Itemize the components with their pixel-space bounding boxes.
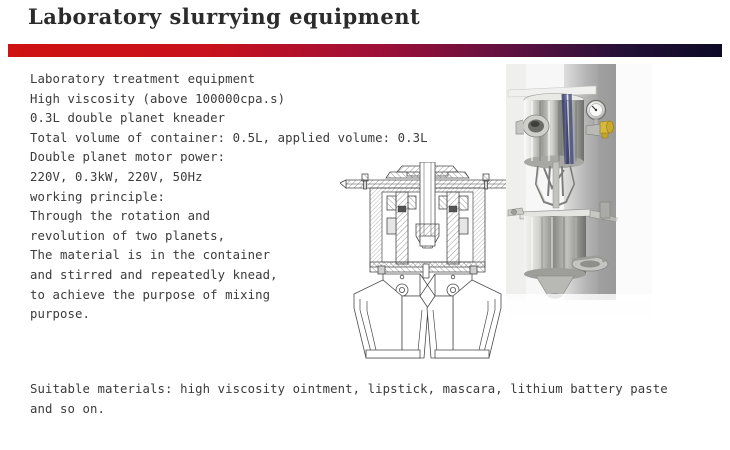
stainless-steel-planetary-mixer-photo — [506, 64, 652, 318]
spec-line: working principle: — [30, 188, 360, 208]
spec-line: Total volume of container: 0.5L, applied… — [30, 129, 360, 149]
spec-line: 220V, 0.3kW, 220V, 50Hz — [30, 168, 360, 188]
specification-text-block: Laboratory treatment equipment High visc… — [30, 70, 360, 325]
spec-line: to achieve the purpose of mixing — [30, 286, 360, 306]
spec-line: Through the rotation and — [30, 207, 360, 227]
spec-line: Double planet motor power: — [30, 148, 360, 168]
spec-line: revolution of two planets, — [30, 227, 360, 247]
note-line: Suitable materials: high viscosity ointm… — [30, 380, 710, 400]
suitable-materials-note: Suitable materials: high viscosity ointm… — [30, 380, 710, 419]
spec-line: purpose. — [30, 305, 360, 325]
note-line: and so on. — [30, 400, 710, 420]
spec-line: The material is in the container — [30, 246, 360, 266]
spec-line: 0.3L double planet kneader — [30, 109, 360, 129]
spec-line: and stirred and repeatedly knead, — [30, 266, 360, 286]
page-title: Laboratory slurrying equipment — [28, 4, 420, 29]
gradient-divider-bar — [8, 44, 722, 57]
spec-line: Laboratory treatment equipment — [30, 70, 360, 90]
spec-line: High viscosity (above 100000cpa.s) — [30, 90, 360, 110]
double-planetary-mixer-cross-section-drawing — [340, 162, 515, 362]
